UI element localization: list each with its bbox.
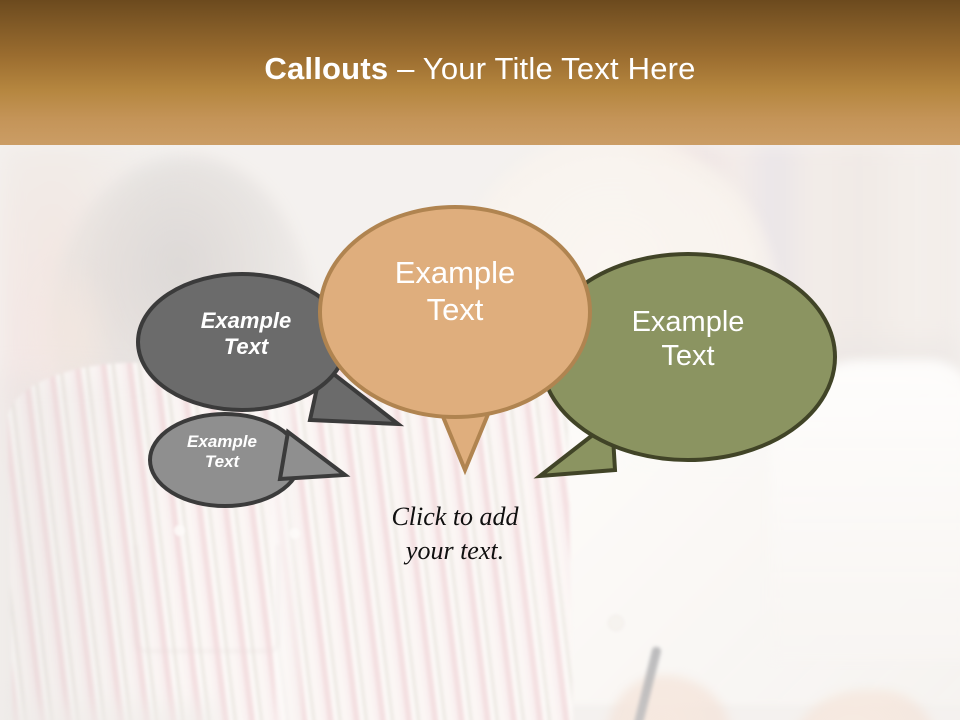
body-text-placeholder[interactable]: Click to add your text.	[330, 500, 580, 569]
callout-tan-shape[interactable]	[320, 207, 590, 417]
page-title-strong: Callouts	[264, 51, 388, 86]
callout-small-gray-tail[interactable]	[280, 432, 345, 479]
title-bar: Callouts – Your Title Text Here	[0, 0, 960, 145]
page-title[interactable]: Callouts – Your Title Text Here	[0, 50, 960, 88]
callout-small-gray-shape[interactable]	[150, 414, 300, 506]
callout-dark-gray-shape[interactable]	[138, 274, 346, 410]
page-title-rest: – Your Title Text Here	[388, 51, 695, 86]
slide-canvas: Example Text Example Text Example Text E…	[0, 0, 960, 720]
